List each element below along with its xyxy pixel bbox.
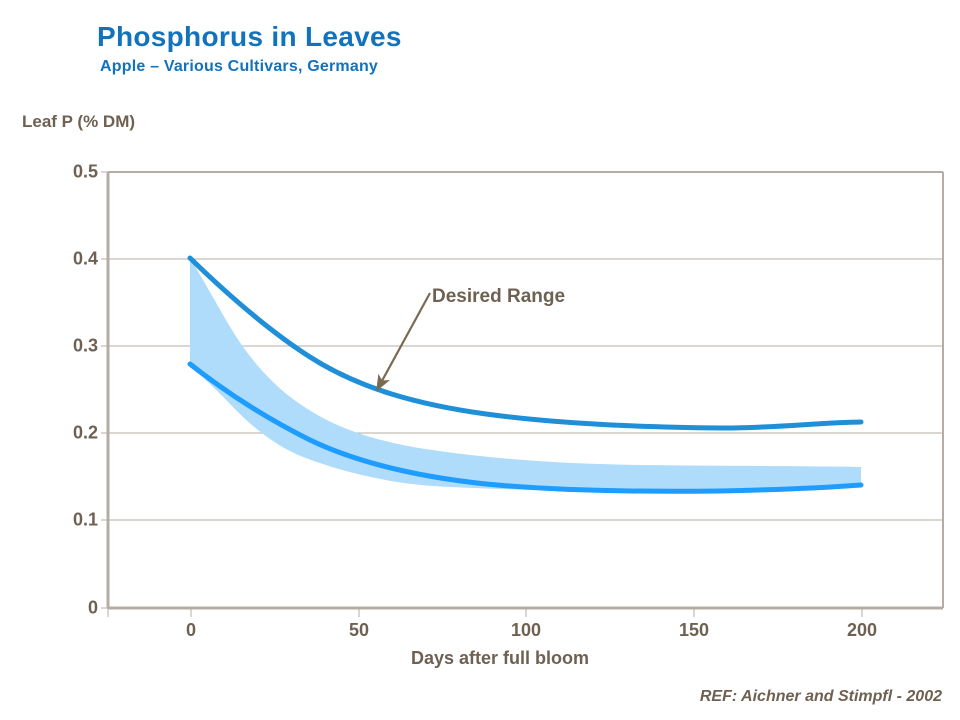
x-axis-title-text: Days after full bloom [411, 648, 589, 668]
plot-area [0, 0, 960, 720]
chart-container: Phosphorus in Leaves Apple – Various Cul… [0, 0, 960, 720]
axis-ticks [101, 172, 862, 617]
desired-range-label: Desired Range [432, 286, 565, 308]
x-axis-title: Days after full bloom [0, 648, 960, 669]
desired-range-arrow [377, 293, 430, 390]
reference-note: REF: Aichner and Stimpfl - 2002 [700, 688, 942, 706]
